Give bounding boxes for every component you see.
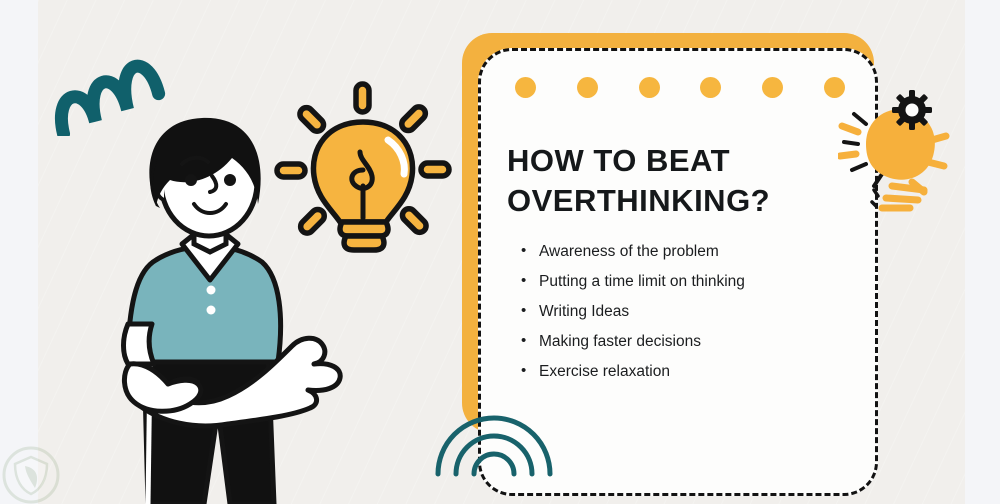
right-page-margin	[965, 0, 1000, 504]
list-item: Writing Ideas	[521, 304, 861, 320]
tips-list: Awareness of the problem Putting a time …	[521, 244, 861, 394]
lightbulb-icon	[268, 78, 458, 263]
binding-dot-1	[515, 77, 536, 98]
left-page-margin	[0, 0, 38, 504]
list-item: Making faster decisions	[521, 334, 861, 350]
list-item: Exercise relaxation	[521, 364, 861, 380]
list-item: Putting a time limit on thinking	[521, 274, 861, 290]
dot-row	[515, 77, 845, 98]
binding-dot-4	[700, 77, 721, 98]
gear-sun-decoration	[838, 86, 960, 214]
list-item: Awareness of the problem	[521, 244, 861, 260]
binding-dot-3	[639, 77, 660, 98]
binding-dot-2	[577, 77, 598, 98]
binding-dot-5	[762, 77, 783, 98]
shield-watermark-logo	[2, 446, 60, 504]
slide-canvas: HOW TO BEAT OVERTHINKING? Awareness of t…	[0, 0, 1000, 504]
concentric-arcs-decoration	[432, 398, 562, 504]
card-title: HOW TO BEAT OVERTHINKING?	[507, 141, 857, 220]
